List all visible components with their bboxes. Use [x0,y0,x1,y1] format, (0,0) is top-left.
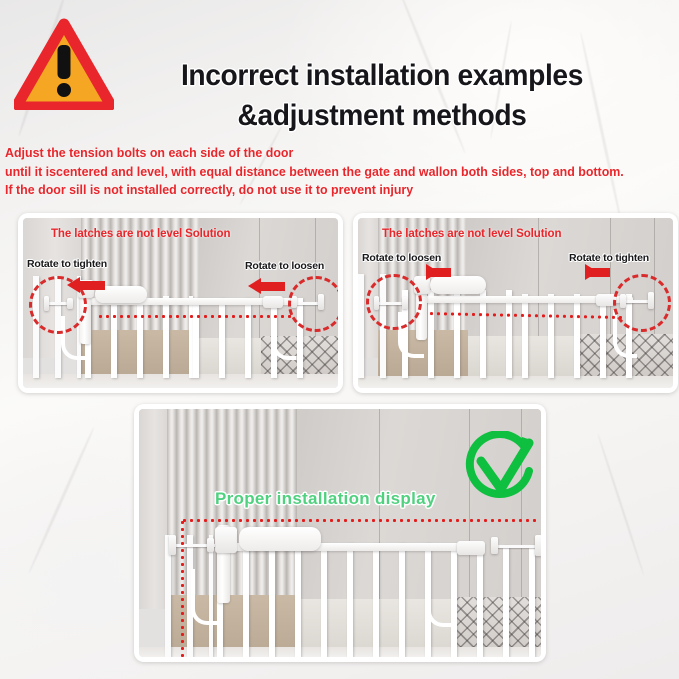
panel-top-right: The latches are not level Solution Rotat… [353,213,678,393]
label-rotate-to-loosen-right: Rotate to loosen [245,260,324,272]
label-rotate-to-tighten-right: Rotate to tighten [569,252,649,264]
marble-vein [597,433,645,576]
label-rotate-to-loosen-left: Rotate to loosen [362,252,441,264]
panel-title-top-left: The latches are not level Solution [51,228,230,240]
page-title: Incorrect installation examples &adjustm… [128,56,636,136]
panel-photo: The latches are not level Solution Rotat… [358,218,673,388]
warning-triangle-icon [14,18,114,110]
panel-photo: The latches are not level Solution Rotat… [23,218,338,388]
level-reference-dotted-line [181,519,537,522]
green-check-circle-icon [465,431,539,512]
panel-top-left: The latches are not level Solution Rotat… [18,213,343,393]
panel-bottom: Proper installation display [134,404,546,662]
instruction-line-2: until it iscentered and level, with equa… [5,163,647,182]
marble-vein [28,426,96,573]
panel-title-top-right: The latches are not level Solution [382,228,561,240]
plumb-reference-dotted-line [181,519,184,657]
panel-photo: Proper installation display [139,409,541,657]
panel-title-bottom: Proper installation display [215,489,436,509]
instruction-line-1: Adjust the tension bolts on each side of… [5,144,647,163]
page-root: Incorrect installation examples &adjustm… [0,0,679,679]
level-reference-dotted-line [97,315,293,318]
highlight-circle-left [366,274,422,330]
highlight-circle-right [288,276,338,332]
title-line-1: Incorrect installation examples [181,59,583,92]
label-rotate-to-tighten-left: Rotate to tighten [27,258,107,270]
instruction-paragraph: Adjust the tension bolts on each side of… [5,144,677,200]
highlight-circle-right [613,274,671,332]
title-line-2: &adjustment methods [128,96,636,136]
instruction-line-3: If the door sill is not installed correc… [5,181,647,200]
